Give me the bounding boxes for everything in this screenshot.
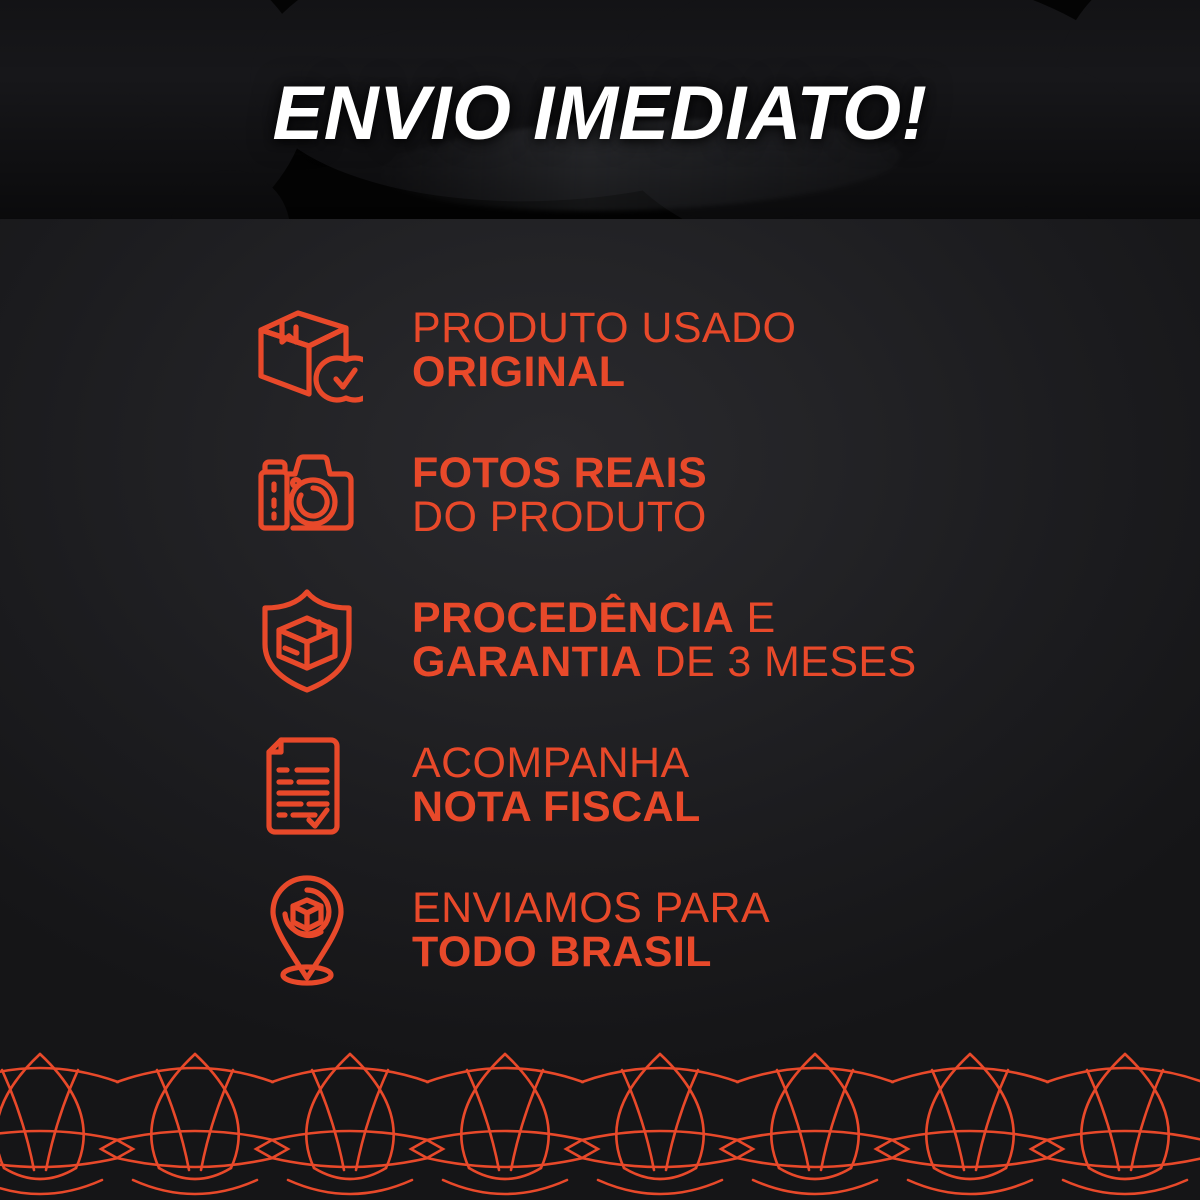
feature-line-2: GARANTIA DE 3 MESES [412, 641, 917, 685]
camera-icon [248, 440, 366, 552]
feature-item-todo-brasil: ENVIAMOS PARA TODO BRASIL [0, 858, 1200, 1003]
header-banner: ENVIO IMEDIATO! [0, 0, 1200, 219]
promo-banner: ENVIO IMEDIATO! PRODUTO USADO ORIGINAL [0, 0, 1200, 1200]
shield-box-icon [248, 585, 366, 697]
feature-item-garantia: PROCEDÊNCIA E GARANTIA DE 3 MESES [0, 568, 1200, 713]
feature-line-1: PRODUTO USADO [412, 307, 796, 351]
feature-line-1-bold: PROCEDÊNCIA [412, 594, 734, 642]
feature-list: PRODUTO USADO ORIGINAL FOTOS REAIS DO [0, 278, 1200, 1003]
feature-line-2-light: DE 3 MESES [642, 638, 916, 686]
map-pin-box-icon [248, 875, 366, 987]
geometric-lattice-border [0, 1040, 1200, 1200]
feature-text-garantia: PROCEDÊNCIA E GARANTIA DE 3 MESES [412, 597, 917, 685]
feature-text-original: PRODUTO USADO ORIGINAL [412, 307, 796, 395]
feature-line-1-light: E [734, 594, 775, 642]
feature-line-2: TODO BRASIL [412, 931, 770, 975]
feature-item-fotos-reais: FOTOS REAIS DO PRODUTO [0, 423, 1200, 568]
feature-line-1: PROCEDÊNCIA E [412, 597, 917, 641]
feature-item-nota-fiscal: ACOMPANHA NOTA FISCAL [0, 713, 1200, 858]
feature-text-nota-fiscal: ACOMPANHA NOTA FISCAL [412, 742, 701, 830]
box-check-icon [248, 295, 366, 407]
feature-text-todo-brasil: ENVIAMOS PARA TODO BRASIL [412, 887, 770, 975]
feature-line-2: DO PRODUTO [412, 496, 707, 540]
feature-item-original: PRODUTO USADO ORIGINAL [0, 278, 1200, 423]
feature-line-2: NOTA FISCAL [412, 786, 701, 830]
feature-line-2: ORIGINAL [412, 351, 796, 395]
invoice-document-icon [248, 730, 366, 842]
page-title: ENVIO IMEDIATO! [0, 76, 1200, 152]
feature-text-fotos-reais: FOTOS REAIS DO PRODUTO [412, 452, 707, 540]
feature-line-1: FOTOS REAIS [412, 452, 707, 496]
feature-line-2-bold: GARANTIA [412, 638, 642, 686]
feature-line-1: ACOMPANHA [412, 742, 701, 786]
feature-line-1: ENVIAMOS PARA [412, 887, 770, 931]
